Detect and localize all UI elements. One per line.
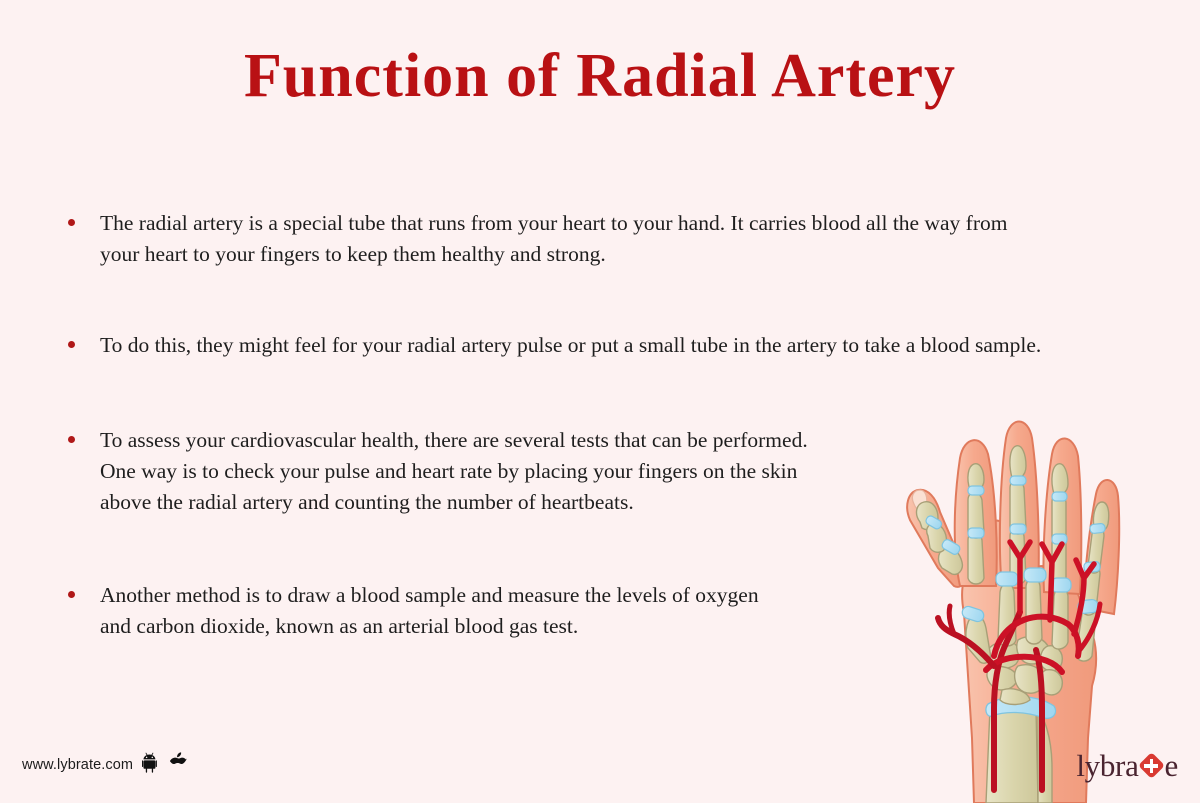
logo-text-after: e xyxy=(1165,750,1178,781)
list-item-text: To assess your cardiovascular health, th… xyxy=(100,425,930,518)
list-item: To do this, they might feel for your rad… xyxy=(62,330,1152,361)
logo-text-before: lybra xyxy=(1076,750,1138,781)
page-title: Function of Radial Artery xyxy=(0,44,1200,109)
list-item-line: One way is to check your pulse and heart… xyxy=(100,456,930,487)
list-item-text: To do this, they might feel for your rad… xyxy=(100,330,1152,361)
footer-left: www.lybrate.com xyxy=(22,752,187,778)
list-item: The radial artery is a special tube that… xyxy=(62,208,1152,270)
list-item-text: Another method is to draw a blood sample… xyxy=(100,580,930,642)
page-root: Function of Radial Artery The radial art… xyxy=(0,0,1200,803)
diamond-cross-icon xyxy=(1139,753,1164,778)
lybrate-logo[interactable]: lybra e xyxy=(1076,750,1178,781)
list-item-text: The radial artery is a special tube that… xyxy=(100,208,1152,270)
list-item-line: Another method is to draw a blood sample… xyxy=(100,580,930,611)
round-bullet-icon xyxy=(62,208,100,226)
round-bullet-icon xyxy=(62,330,100,348)
round-bullet-icon xyxy=(62,425,100,443)
list-item-line: To do this, they might feel for your rad… xyxy=(100,330,1152,361)
hand-anatomy-illustration xyxy=(902,408,1152,803)
round-bullet-icon xyxy=(62,580,100,598)
list-item-line: your heart to your fingers to keep them … xyxy=(100,239,1152,270)
website-url[interactable]: www.lybrate.com xyxy=(22,757,133,773)
apple-icon[interactable] xyxy=(170,752,187,778)
list-item-line: To assess your cardiovascular health, th… xyxy=(100,425,930,456)
list-item-line: The radial artery is a special tube that… xyxy=(100,208,1152,239)
list-item-line: and carbon dioxide, known as an arterial… xyxy=(100,611,930,642)
android-icon[interactable] xyxy=(142,752,161,778)
list-item-line: above the radial artery and counting the… xyxy=(100,487,930,518)
